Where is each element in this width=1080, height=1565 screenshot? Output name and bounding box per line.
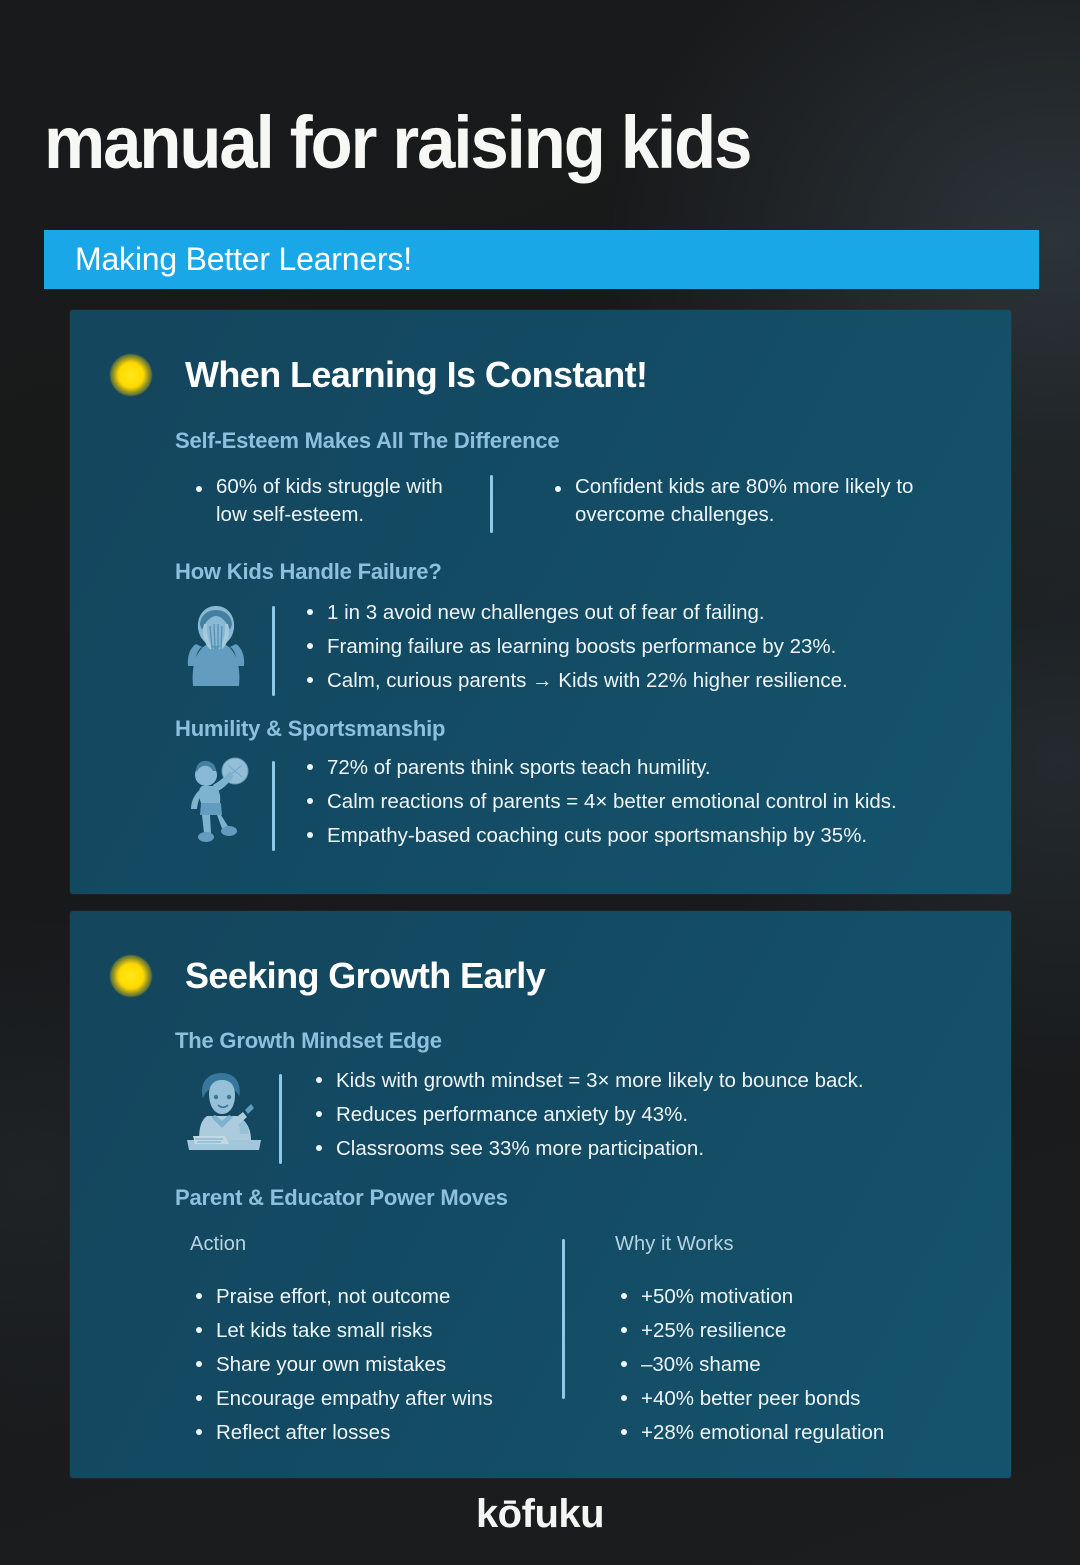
growth-mindset-row: Kids with growth mindset = 3× more likel…	[185, 1068, 1005, 1166]
table-row: Let kids take small risks	[190, 1314, 550, 1348]
sun-icon	[110, 955, 152, 997]
table-row: Praise effort, not outcome	[190, 1280, 550, 1314]
bullet-list: 60% of kids struggle with low self-estee…	[190, 473, 470, 529]
list-item: 72% of parents think sports teach humili…	[301, 751, 897, 785]
table-column-header: Action	[190, 1233, 550, 1256]
list-item: Empathy-based coaching cuts poor sportsm…	[301, 819, 897, 853]
bullet-list: Praise effort, not outcome Let kids take…	[190, 1280, 550, 1450]
list-item: Calm reactions of parents = 4× better em…	[301, 785, 897, 819]
child-covering-face-icon	[180, 600, 252, 691]
infographic-page: manual for raising kids Making Better Le…	[0, 0, 1080, 1565]
brand-logo: kōfuku	[0, 1492, 1080, 1537]
table-row: Reflect after losses	[190, 1416, 550, 1450]
bullet-list: Confident kids are 80% more likely to ov…	[549, 473, 939, 529]
row-divider	[272, 761, 275, 851]
bullet-list: +50% motivation +25% resilience –30% sha…	[615, 1280, 975, 1450]
subsection-heading-humility: Humility & Sportsmanship	[175, 716, 445, 742]
bullet-list: 1 in 3 avoid new challenges out of fear …	[301, 596, 848, 698]
subtitle-banner: Making Better Learners!	[44, 230, 1039, 289]
row-divider	[272, 606, 275, 696]
list-item: 1 in 3 avoid new challenges out of fear …	[301, 596, 848, 630]
bullet-list: 72% of parents think sports teach humili…	[301, 751, 897, 853]
list-item: Reduces performance anxiety by 43%.	[310, 1098, 864, 1132]
subsection-heading-power-moves: Parent & Educator Power Moves	[175, 1185, 508, 1211]
table-row: +25% resilience	[615, 1314, 975, 1348]
list-item: Calm, curious parents → Kids with 22% hi…	[301, 664, 848, 698]
child-studying-icon	[185, 1068, 257, 1159]
list-item: Confident kids are 80% more likely to ov…	[549, 473, 939, 529]
section-card-seeking-growth: Seeking Growth Early The Growth Mindset …	[70, 911, 1011, 1478]
child-playing-ball-icon	[180, 755, 252, 850]
subsection-heading-self-esteem: Self-Esteem Makes All The Difference	[175, 428, 559, 454]
section-1-header: When Learning Is Constant!	[110, 354, 647, 396]
subsection-heading-handle-failure: How Kids Handle Failure?	[175, 559, 442, 585]
handle-failure-row: 1 in 3 avoid new challenges out of fear …	[180, 600, 980, 698]
power-moves-table: Action Praise effort, not outcome Let ki…	[190, 1233, 990, 1450]
section-2-header: Seeking Growth Early	[110, 955, 545, 997]
list-item: Framing failure as learning boosts perfo…	[301, 630, 848, 664]
row-divider	[279, 1074, 282, 1164]
table-column-why-it-works: Why it Works +50% motivation +25% resili…	[615, 1233, 975, 1450]
sun-icon	[110, 354, 152, 396]
column-divider	[490, 475, 493, 533]
page-title: manual for raising kids	[44, 104, 918, 182]
table-column-header: Why it Works	[615, 1233, 975, 1256]
table-row: Share your own mistakes	[190, 1348, 550, 1382]
self-esteem-bullet-columns: 60% of kids struggle with low self-estee…	[190, 473, 980, 533]
table-row: –30% shame	[615, 1348, 975, 1382]
humility-row: 72% of parents think sports teach humili…	[180, 755, 1000, 853]
table-column-action: Action Praise effort, not outcome Let ki…	[190, 1233, 550, 1450]
list-item: Classrooms see 33% more participation.	[310, 1132, 864, 1166]
subsection-heading-growth-mindset: The Growth Mindset Edge	[175, 1028, 442, 1054]
subtitle-banner-text: Making Better Learners!	[75, 241, 412, 278]
table-row: +40% better peer bonds	[615, 1382, 975, 1416]
section-card-learning-constant: When Learning Is Constant! Self-Esteem M…	[70, 310, 1011, 894]
self-esteem-left-column: 60% of kids struggle with low self-estee…	[190, 473, 470, 533]
self-esteem-right-column: Confident kids are 80% more likely to ov…	[549, 473, 939, 533]
column-divider	[562, 1239, 565, 1399]
table-row: +28% emotional regulation	[615, 1416, 975, 1450]
section-2-title: Seeking Growth Early	[185, 955, 545, 997]
list-item: Kids with growth mindset = 3× more likel…	[310, 1064, 864, 1098]
list-item: 60% of kids struggle with low self-estee…	[190, 473, 470, 529]
bullet-list: Kids with growth mindset = 3× more likel…	[310, 1064, 864, 1166]
table-row: +50% motivation	[615, 1280, 975, 1314]
section-1-title: When Learning Is Constant!	[185, 354, 647, 396]
table-row: Encourage empathy after wins	[190, 1382, 550, 1416]
